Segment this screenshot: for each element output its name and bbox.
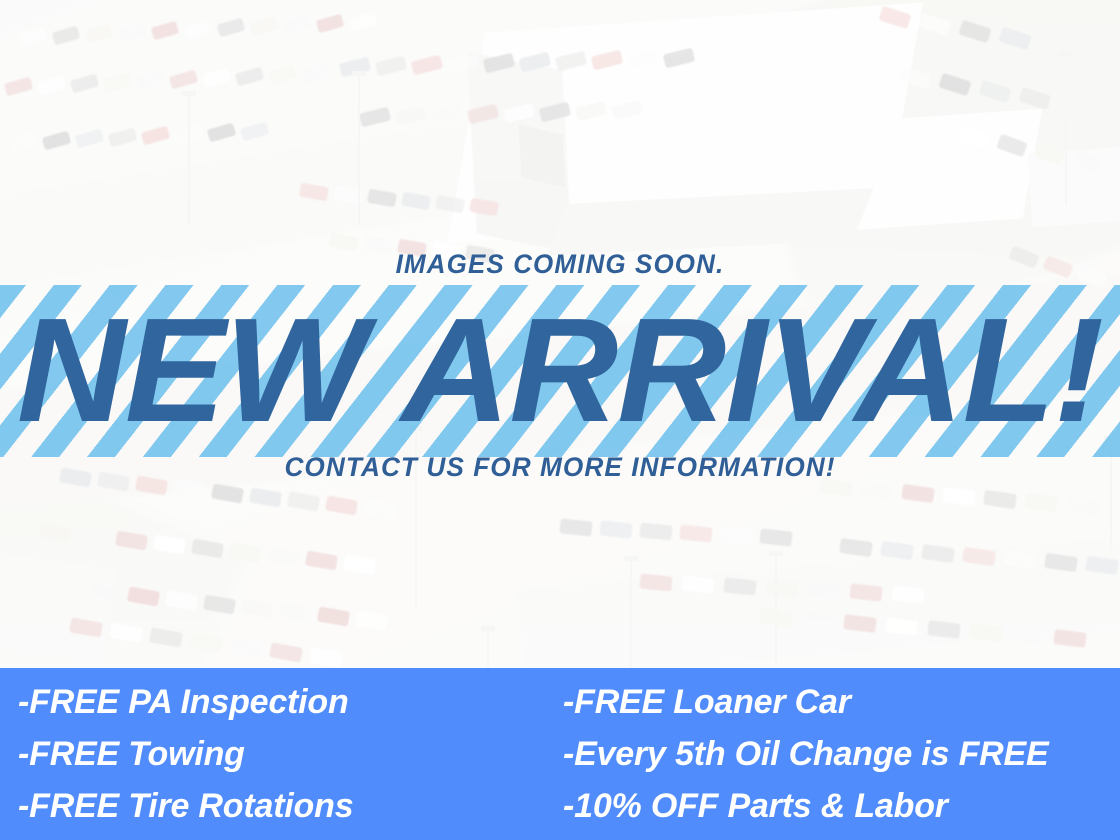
new-arrival-placeholder-image: IMAGES COMING SOON. NEW ARRIVAL! CONTACT… [0, 0, 1120, 840]
offer-item: -FREE Tire Rotations [18, 782, 545, 831]
contact-us-subline: CONTACT US FOR MORE INFORMATION! [17, 452, 1103, 483]
offer-item: -FREE PA Inspection [18, 678, 545, 727]
offer-item: -10% OFF Parts & Labor [563, 782, 1120, 831]
offer-item: -Every 5th Oil Change is FREE [563, 730, 1120, 779]
service-offers-banner: -FREE PA Inspection -FREE Towing -FREE T… [0, 668, 1120, 840]
offers-column-right: -FREE Loaner Car -Every 5th Oil Change i… [545, 678, 1120, 831]
offer-item: -FREE Towing [18, 730, 545, 779]
offers-column-left: -FREE PA Inspection -FREE Towing -FREE T… [0, 678, 545, 831]
offer-item: -FREE Loaner Car [563, 678, 1120, 727]
images-coming-soon-text: IMAGES COMING SOON. [22, 249, 1097, 280]
new-arrival-headline: NEW ARRIVAL! [0, 296, 1120, 446]
